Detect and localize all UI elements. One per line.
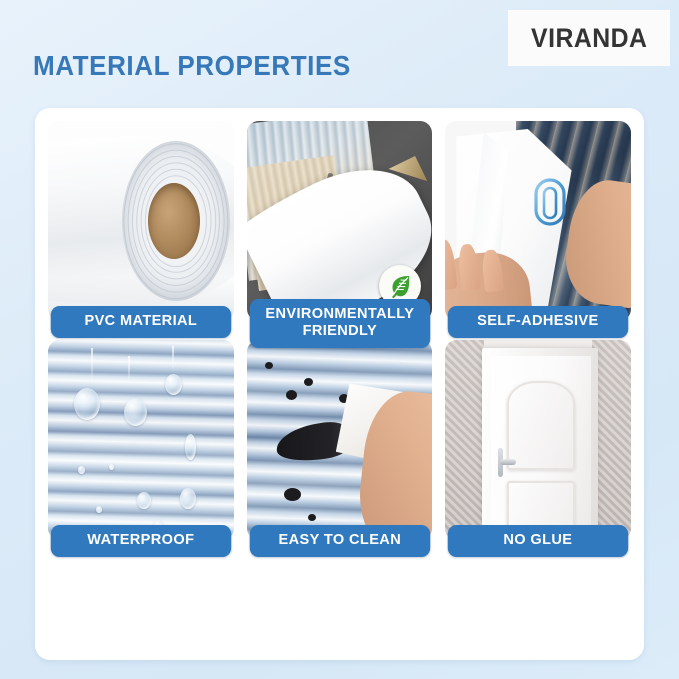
- feature-label-easy-to-clean: EASY TO CLEAN: [249, 525, 429, 557]
- feature-cell-easy-to-clean[interactable]: EASY TO CLEAN: [247, 340, 433, 540]
- waterproof-image: [48, 340, 234, 540]
- cardboard-core: [148, 183, 200, 259]
- feature-label-waterproof: WATERPROOF: [51, 525, 231, 557]
- feature-cell-environmentally-friendly[interactable]: ENVIRONMENTALLY FRIENDLY: [247, 121, 433, 321]
- self-adhesive-image: [445, 121, 631, 321]
- feature-label-pvc-material: PVC MATERIAL: [51, 306, 231, 338]
- feature-label-no-glue: NO GLUE: [448, 525, 628, 557]
- eco-sheet-image: [247, 121, 433, 321]
- feature-cell-pvc-material[interactable]: PVC MATERIAL: [48, 121, 234, 321]
- no-glue-door-image: [445, 340, 631, 540]
- brand-logo-box: VIRANDA: [508, 10, 670, 66]
- feature-label-line-1: ENVIRONMENTALLY: [265, 305, 414, 322]
- feature-cell-self-adhesive[interactable]: SELF-ADHESIVE: [445, 121, 631, 321]
- features-grid: PVC MATERIAL: [48, 121, 631, 540]
- paperclip-icon: [533, 177, 567, 227]
- feature-label-environmentally-friendly: ENVIRONMENTALLY FRIENDLY: [249, 299, 429, 348]
- leaf-icon: [387, 273, 413, 299]
- door-frame: [482, 348, 597, 540]
- easy-to-clean-image: [247, 340, 433, 540]
- door-handle: [500, 459, 516, 465]
- feature-cell-no-glue[interactable]: NO GLUE: [445, 340, 631, 540]
- paperclip-badge: [533, 177, 567, 227]
- feature-label-line-2: FRIENDLY: [302, 322, 377, 339]
- door-panel-top: [507, 381, 575, 469]
- feature-cell-waterproof[interactable]: WATERPROOF: [48, 340, 234, 540]
- features-card: PVC MATERIAL: [35, 108, 644, 660]
- feature-label-self-adhesive: SELF-ADHESIVE: [448, 306, 628, 338]
- infographic-page: VIRANDA MATERIAL PROPERTIES: [0, 0, 679, 679]
- page-title: MATERIAL PROPERTIES: [33, 50, 351, 82]
- brand-name: VIRANDA: [531, 23, 647, 54]
- door-leaf: [491, 356, 591, 540]
- pvc-roll-image: [48, 121, 234, 321]
